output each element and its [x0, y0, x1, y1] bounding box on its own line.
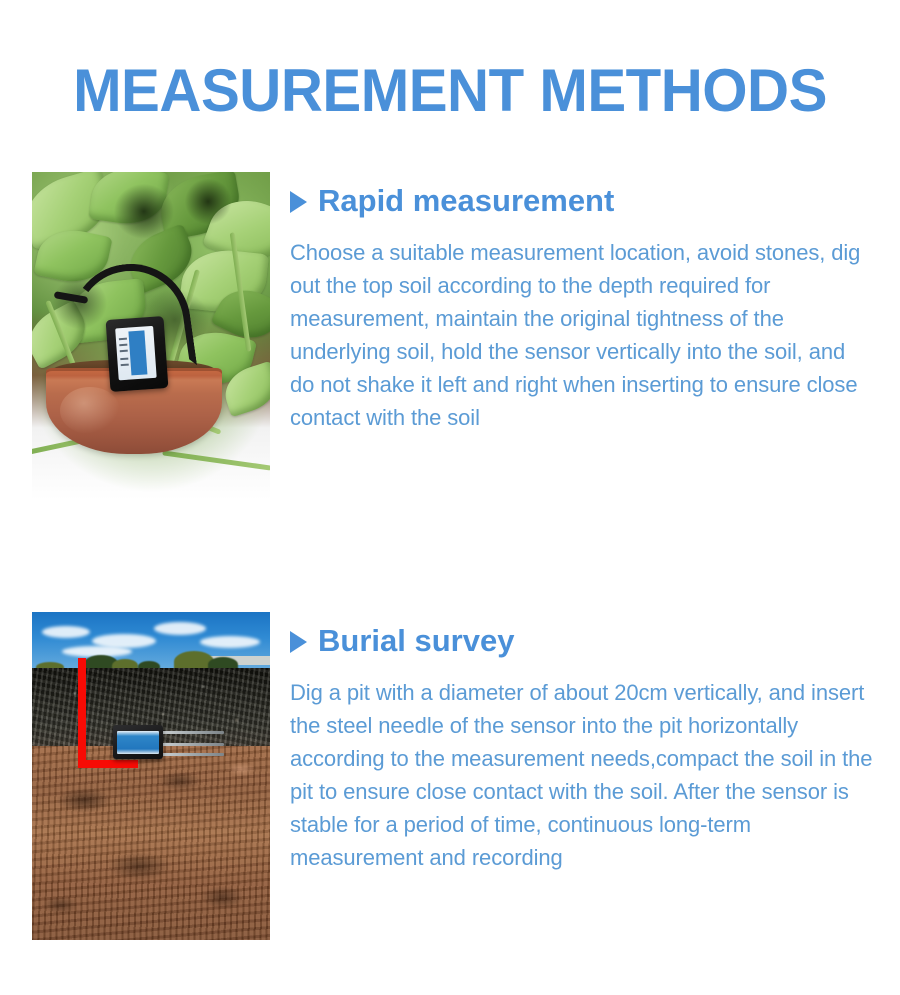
page-root: MEASUREMENT METHODS	[0, 0, 900, 995]
body-text-rapid-measurement: Choose a suitable measurement location, …	[290, 216, 874, 434]
heading-rapid-measurement: Rapid measurement	[290, 172, 874, 216]
text-column-burial: Burial survey Dig a pit with a diameter …	[290, 612, 874, 874]
soil-moisture-sensor-body	[106, 316, 169, 392]
page-title: MEASUREMENT METHODS	[14, 58, 887, 124]
triangle-right-icon	[290, 631, 307, 653]
cloud-shape	[154, 622, 206, 635]
photo-rapid-measurement-canvas	[32, 172, 270, 500]
heading-rapid-measurement-label: Rapid measurement	[318, 185, 614, 216]
photo-burial-survey-canvas	[32, 612, 270, 940]
sensor-label-stripe	[128, 330, 147, 375]
sensor-label-line	[121, 364, 129, 366]
text-column-rapid: Rapid measurement Choose a suitable meas…	[290, 172, 874, 434]
steel-needle	[158, 731, 224, 734]
body-text-burial-survey: Dig a pit with a diameter of about 20cm …	[290, 656, 874, 874]
heading-burial-survey-label: Burial survey	[318, 625, 514, 656]
photo-burial-survey	[32, 612, 270, 940]
steel-needle	[158, 753, 224, 756]
sensor-label-line	[120, 358, 128, 360]
depth-marker-vertical	[78, 658, 86, 768]
sensor-label-line	[119, 338, 127, 340]
subsoil-layer	[32, 746, 270, 940]
sensor-label	[117, 731, 159, 754]
cloud-shape	[42, 626, 90, 638]
soil-moisture-sensor-body	[113, 725, 163, 759]
triangle-right-icon	[290, 191, 307, 213]
cloud-shape	[200, 636, 260, 648]
sensor-label	[115, 326, 157, 381]
sensor-label-line	[119, 344, 127, 346]
photo-rapid-measurement	[32, 172, 270, 500]
heading-burial-survey: Burial survey	[290, 612, 874, 656]
sensor-label-line	[120, 350, 128, 352]
depth-marker-horizontal	[78, 760, 138, 768]
steel-needle	[158, 743, 224, 746]
